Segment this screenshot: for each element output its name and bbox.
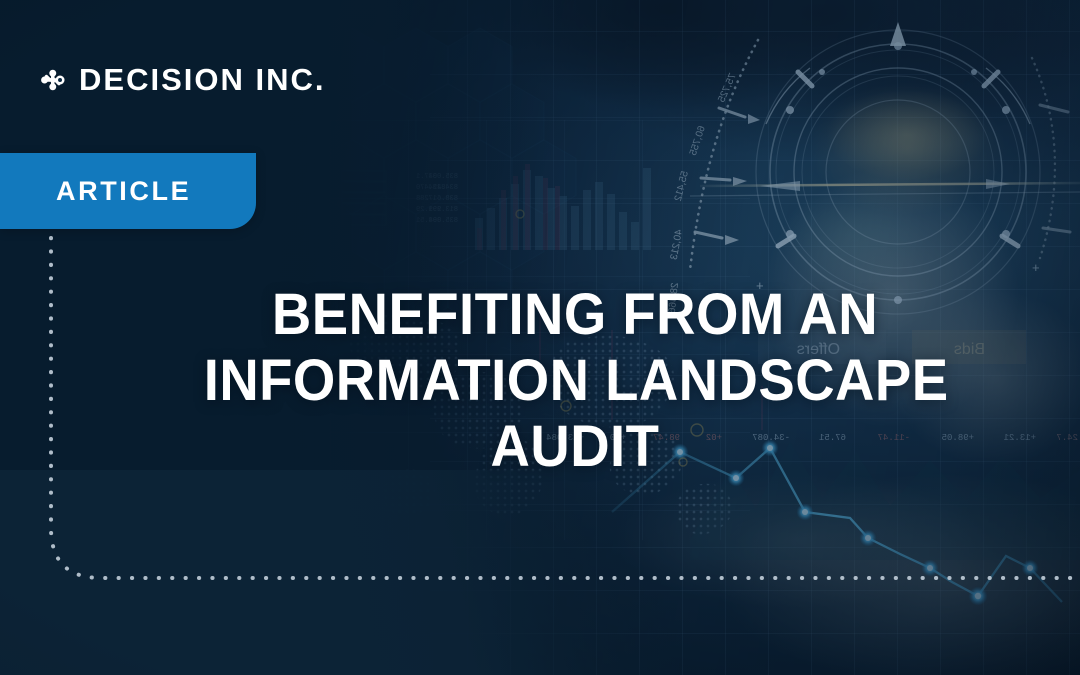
background-bottom-left <box>0 470 1080 675</box>
hud-crossbeam <box>690 179 1080 196</box>
bar-chart-icon <box>475 164 651 250</box>
svg-text:845.470: 845.470 <box>416 184 445 192</box>
title-line-2: INFORMATION LANDSCAPE <box>204 348 947 414</box>
data-table-glyphs: 835.004337.1 834.224845.470 838.617288 8… <box>342 171 458 225</box>
radial-scale-icon: 75,725 60,755 55,412 40,213 28,466 <box>667 40 760 314</box>
molecule-logo-icon <box>38 65 68 95</box>
svg-text:55,412: 55,412 <box>673 170 691 203</box>
svg-text:834.224: 834.224 <box>429 184 458 192</box>
article-category-badge[interactable]: ARTICLE <box>0 153 256 229</box>
hexagon-pattern-icon <box>300 20 630 310</box>
svg-text:60,755: 60,755 <box>688 125 708 158</box>
svg-text:40,213: 40,213 <box>669 229 685 261</box>
svg-text:813.999: 813.999 <box>429 206 458 214</box>
svg-text:337.1: 337.1 <box>416 173 437 181</box>
svg-text:291.29: 291.29 <box>416 206 441 214</box>
title-line-3: AUDIT <box>204 414 947 480</box>
brand-wordmark: DECISION INC. <box>79 64 325 95</box>
brand-logo[interactable]: DECISION INC. <box>38 64 325 95</box>
svg-text:835.004: 835.004 <box>429 173 458 181</box>
page-title: BENEFITING FROM AN INFORMATION LANDSCAPE… <box>204 282 947 480</box>
svg-text:304.51: 304.51 <box>416 217 441 225</box>
radar-dial-icon: + + <box>756 22 1040 314</box>
svg-text:75,725: 75,725 <box>716 72 739 105</box>
svg-text:+98.05: +98.05 <box>942 433 974 443</box>
svg-text:+13.21: +13.21 <box>1004 433 1036 443</box>
title-line-1: BENEFITING FROM AN <box>204 282 947 348</box>
svg-text:24.7: 24.7 <box>1056 433 1078 443</box>
svg-text:+: + <box>1032 260 1040 275</box>
svg-text:Bids: Bids <box>954 341 985 358</box>
svg-text:838.617: 838.617 <box>429 195 458 203</box>
svg-text:288: 288 <box>416 195 429 203</box>
svg-text:835.098: 835.098 <box>429 217 458 225</box>
article-hero-banner: 835.004337.1 834.224845.470 838.617288 8… <box>0 0 1080 675</box>
article-badge-label: ARTICLE <box>56 176 191 207</box>
